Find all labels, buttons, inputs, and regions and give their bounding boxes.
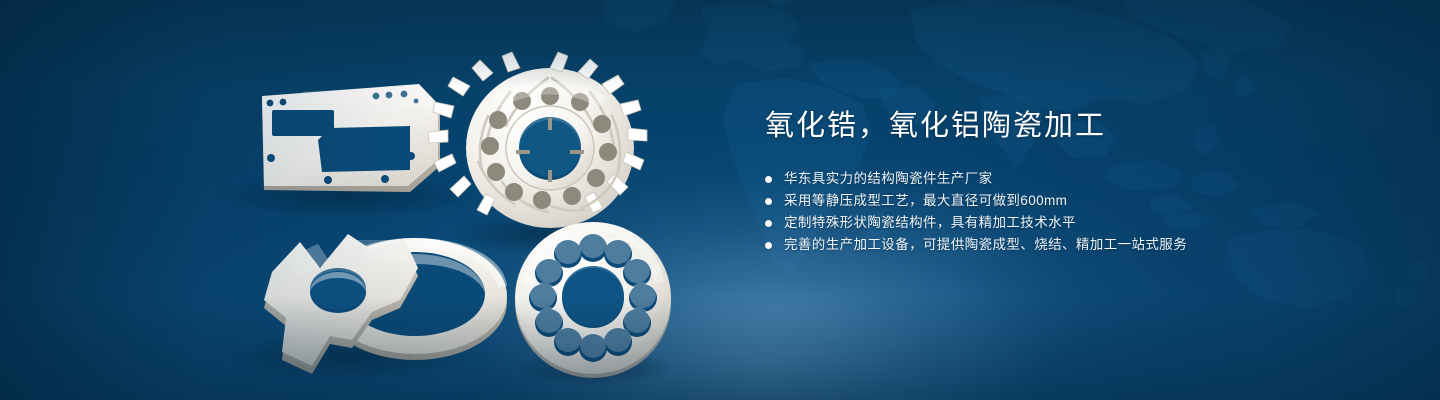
bullet-dot-icon [765,242,772,249]
list-item: 采用等静压成型工艺，最大直径可做到600mm [765,190,1385,212]
feature-text: 定制特殊形状陶瓷结构件，具有精加工技术水平 [784,212,1076,234]
bullet-dot-icon [765,198,772,205]
list-item: 华东具实力的结构陶瓷件生产厂家 [765,168,1385,190]
ceramic-machined-plate [262,84,440,192]
feature-text: 华东具实力的结构陶瓷件生产厂家 [784,168,993,190]
list-item: 定制特殊形状陶瓷结构件，具有精加工技术水平 [765,212,1385,234]
ceramic-perforated-disc [515,222,671,378]
feature-text: 完善的生产加工设备，可提供陶瓷成型、烧结、精加工一站式服务 [784,234,1187,256]
feature-text: 采用等静压成型工艺，最大直径可做到600mm [784,190,1067,212]
ceramic-products-photo [0,0,720,400]
bullet-dot-icon [765,176,772,183]
bullet-dot-icon [765,220,772,227]
ceramic-processing-banner: 氧化锆，氧化铝陶瓷加工 华东具实力的结构陶瓷件生产厂家 采用等静压成型工艺，最大… [0,0,1440,400]
banner-copy: 氧化锆，氧化铝陶瓷加工 华东具实力的结构陶瓷件生产厂家 采用等静压成型工艺，最大… [765,106,1385,256]
list-item: 完善的生产加工设备，可提供陶瓷成型、烧结、精加工一站式服务 [765,234,1385,256]
banner-feature-list: 华东具实力的结构陶瓷件生产厂家 采用等静压成型工艺，最大直径可做到600mm 定… [765,168,1385,256]
banner-headline: 氧化锆，氧化铝陶瓷加工 [765,106,1385,146]
